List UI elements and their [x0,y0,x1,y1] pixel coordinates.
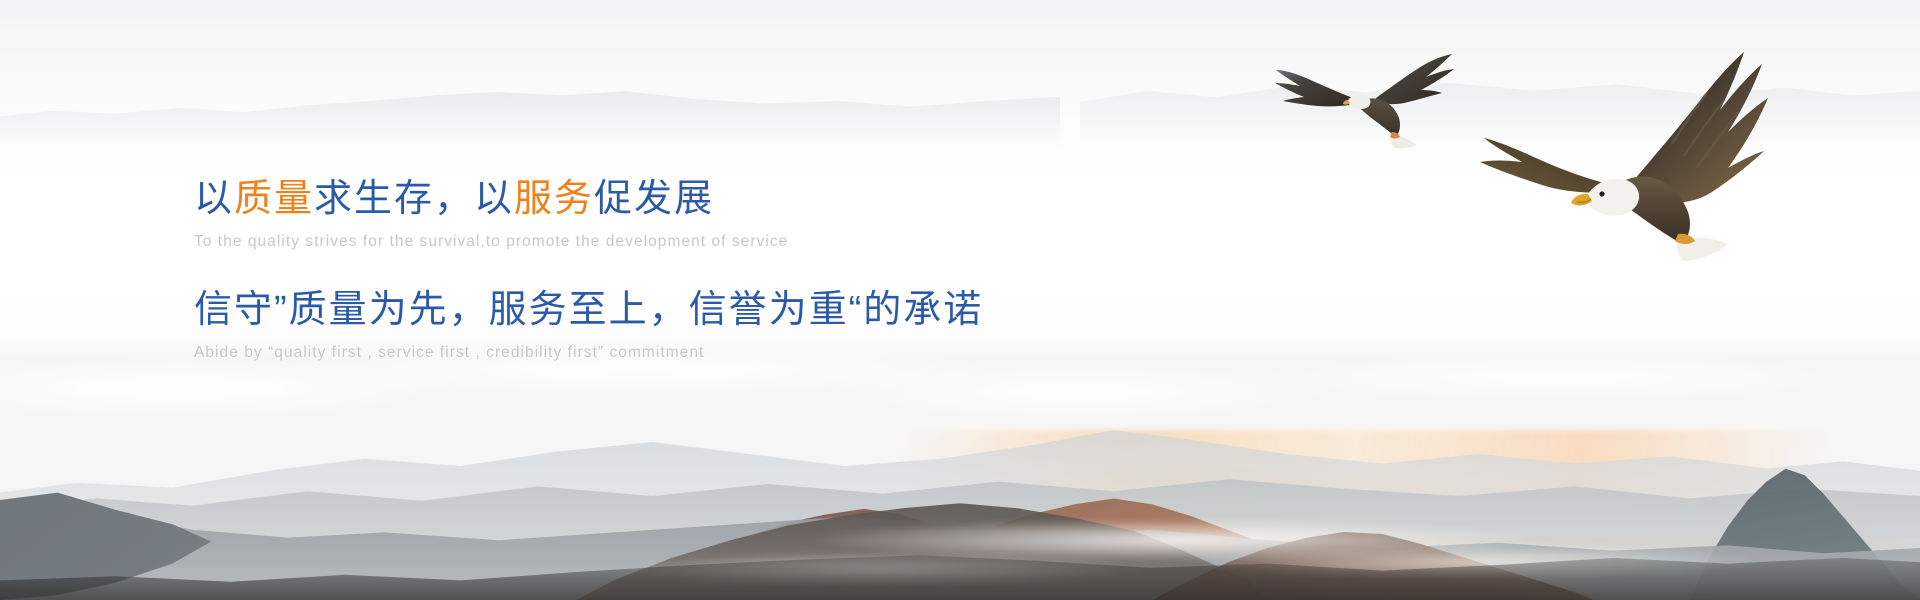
slogan-1-seg-3: 服务 [514,178,594,220]
slogan-1-seg-0: 以 [194,178,234,220]
slogan-1-seg-4: 促发展 [594,178,714,220]
slogan-line-2: 信守”质量为先，服务至上，信誉为重“的承诺 [194,287,1194,335]
slogan-block: 以质量求生存，以服务促发展 To the quality strives for… [194,176,1194,362]
slogan-1-subtitle: To the quality strives for the survival,… [194,233,1194,251]
slogan-1-seg-2: 求生存，以 [314,178,514,220]
hero-banner: 以质量求生存，以服务促发展 To the quality strives for… [0,0,1920,600]
slogan-1-seg-1: 质量 [234,178,314,220]
slogan-2-subtitle: Abide by “quality first , service first … [194,344,1194,362]
eagle-large-icon [1420,38,1820,268]
slogan-2-seg-0: 信守”质量为先，服务至上，信誉为重“的承诺 [194,289,983,331]
slogan-line-1: 以质量求生存，以服务促发展 [194,176,1194,224]
